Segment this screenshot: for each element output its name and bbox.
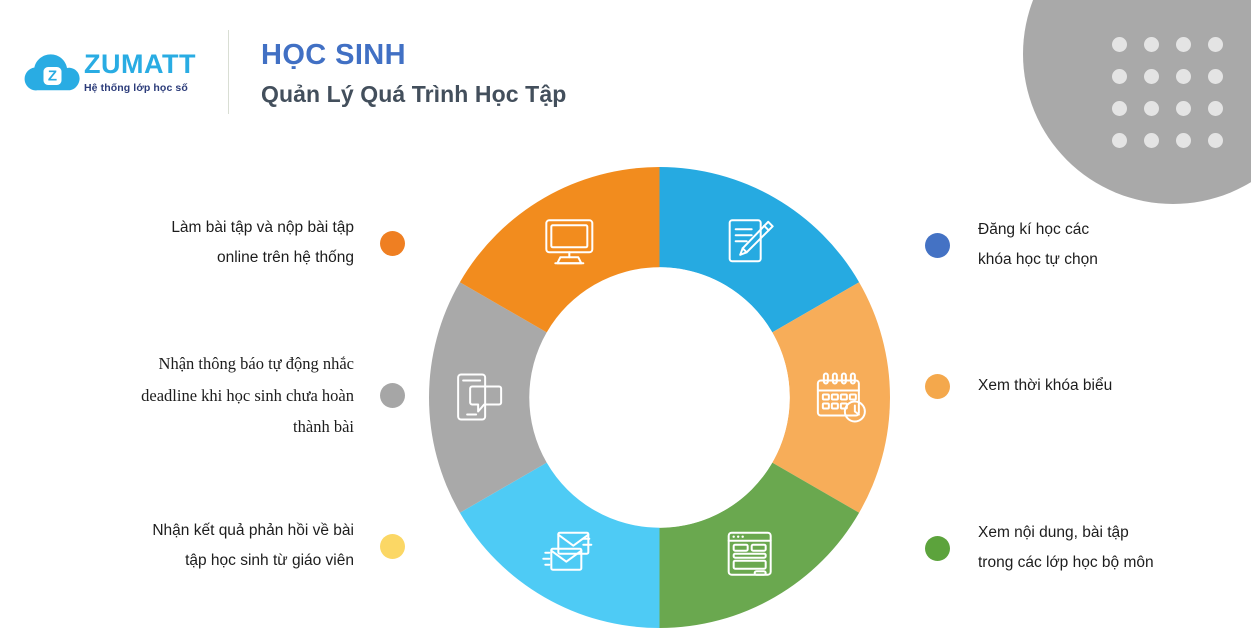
brand-text: ZUMATT Hệ thống lớp học số — [84, 51, 196, 94]
brand-logo[interactable]: Z ZUMATT Hệ thống lớp học số — [22, 41, 198, 103]
legend-label: Nhận thông báo tự động nhắc deadline khi… — [141, 348, 354, 443]
decorative-dot — [1176, 101, 1191, 116]
legend-color-dot — [380, 383, 405, 408]
legend-item-timetable[interactable]: Xem thời khóa biểu — [925, 371, 1251, 401]
header-titles: HỌC SINH Quản Lý Quá Trình Học Tập — [261, 36, 566, 109]
legend-color-dot — [380, 231, 405, 256]
legend-color-dot — [925, 536, 950, 561]
decorative-dot — [1112, 101, 1127, 116]
svg-text:Z: Z — [48, 68, 57, 85]
donut-center-hole — [529, 267, 789, 527]
legend-item-homework-online[interactable]: Làm bài tập và nộp bài tập online trên h… — [75, 213, 405, 273]
decorative-dot — [1144, 69, 1159, 84]
corner-dot-grid-decoration — [1103, 28, 1231, 156]
infographic-page: Z ZUMATT Hệ thống lớp học số HỌC SINH Qu… — [0, 0, 1251, 629]
decorative-dot — [1208, 37, 1223, 52]
decorative-dot — [1208, 101, 1223, 116]
legend-label: Xem thời khóa biểu — [978, 371, 1112, 401]
legend-item-class-content[interactable]: Xem nội dung, bài tập trong các lớp học … — [925, 518, 1251, 578]
legend-label: Đăng kí học các khóa học tự chọn — [978, 215, 1098, 275]
brand-name: ZUMATT — [84, 51, 196, 78]
decorative-dot — [1176, 37, 1191, 52]
donut-chart — [429, 167, 890, 628]
legend-color-dot — [925, 233, 950, 258]
legend-color-dot — [380, 534, 405, 559]
decorative-dot — [1144, 133, 1159, 148]
page-header: Z ZUMATT Hệ thống lớp học số HỌC SINH Qu… — [22, 30, 566, 114]
decorative-dot — [1208, 133, 1223, 148]
decorative-dot — [1112, 69, 1127, 84]
decorative-dot — [1176, 133, 1191, 148]
page-subtitle: Quản Lý Quá Trình Học Tập — [261, 81, 566, 109]
brand-tagline: Hệ thống lớp học số — [84, 82, 196, 94]
legend-label: Xem nội dung, bài tập trong các lớp học … — [978, 518, 1154, 578]
legend-item-deadline-reminder[interactable]: Nhận thông báo tự động nhắc deadline khi… — [75, 348, 405, 443]
page-title: HỌC SINH — [261, 38, 566, 72]
decorative-dot — [1112, 37, 1127, 52]
decorative-dot — [1144, 101, 1159, 116]
decorative-dot — [1144, 37, 1159, 52]
legend-item-course-registration[interactable]: Đăng kí học các khóa học tự chọn — [925, 215, 1251, 275]
decorative-dot — [1112, 133, 1127, 148]
decorative-dot — [1208, 69, 1223, 84]
legend-item-teacher-feedback[interactable]: Nhận kết quả phản hồi về bài tập học sin… — [75, 516, 405, 576]
decorative-dot — [1176, 69, 1191, 84]
legend-label: Nhận kết quả phản hồi về bài tập học sin… — [152, 516, 354, 576]
header-divider — [228, 30, 229, 114]
legend-label: Làm bài tập và nộp bài tập online trên h… — [171, 213, 354, 273]
legend-color-dot — [925, 374, 950, 399]
cloud-logo-icon: Z — [22, 49, 82, 95]
